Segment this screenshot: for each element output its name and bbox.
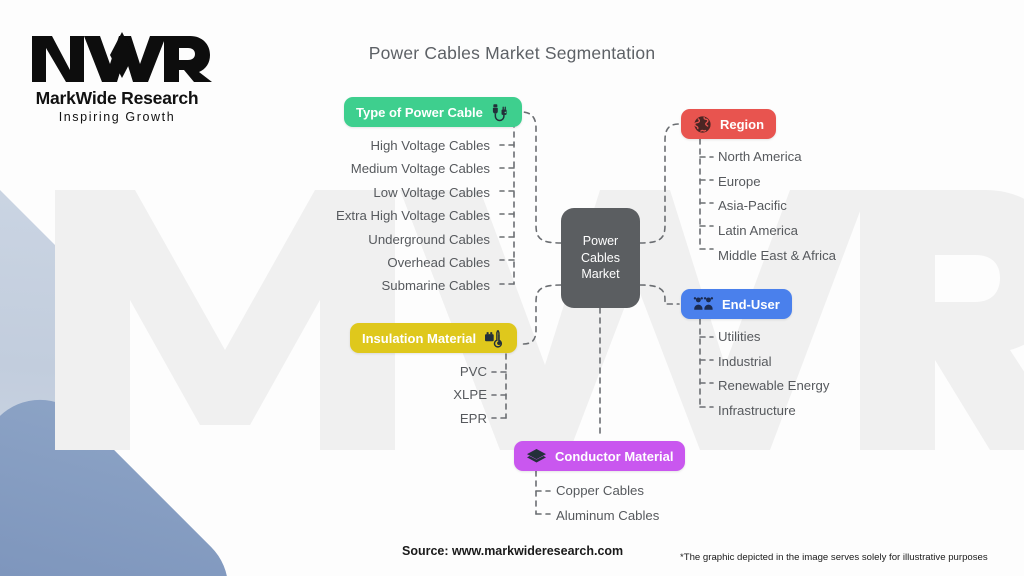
list-item: Industrial xyxy=(718,355,1008,368)
list-item: Asia-Pacific xyxy=(718,199,1008,212)
thermometer-icon xyxy=(484,329,505,348)
users-icon xyxy=(693,295,714,314)
center-node: Power Cables Market xyxy=(561,208,640,308)
list-item: Copper Cables xyxy=(556,484,846,497)
decorative-shape-light xyxy=(0,142,150,538)
branch-label-conductor-material: Conductor Material xyxy=(555,450,673,463)
branch-label-end-user: End-User xyxy=(722,298,780,311)
branch-badge-type-of-power-cable[interactable]: Type of Power Cable xyxy=(344,97,522,127)
page-title: Power Cables Market Segmentation xyxy=(0,43,1024,64)
branch-items-conductor-material: Copper Cables Aluminum Cables xyxy=(556,484,846,533)
branch-badge-insulation-material[interactable]: Insulation Material xyxy=(350,323,517,353)
branch-items-type-of-power-cable: High Voltage Cables Medium Voltage Cable… xyxy=(130,139,490,303)
list-item: High Voltage Cables xyxy=(130,139,490,152)
branch-badge-end-user[interactable]: End-User xyxy=(681,289,792,319)
list-item: Low Voltage Cables xyxy=(130,186,490,199)
list-item: Utilities xyxy=(718,330,1008,343)
list-item: Infrastructure xyxy=(718,404,1008,417)
branch-label-region: Region xyxy=(720,118,764,131)
list-item: Renewable Energy xyxy=(718,379,1008,392)
layers-icon xyxy=(526,447,547,466)
branch-badge-region[interactable]: Region xyxy=(681,109,776,139)
infographic-canvas: MarkWide Research Inspiring Growth Power… xyxy=(0,0,1024,576)
center-node-line-1: Power xyxy=(583,233,618,250)
branch-label-insulation-material: Insulation Material xyxy=(362,332,476,345)
branch-label-type-of-power-cable: Type of Power Cable xyxy=(356,106,483,119)
branch-badge-conductor-material[interactable]: Conductor Material xyxy=(514,441,685,471)
list-item: Medium Voltage Cables xyxy=(130,162,490,175)
globe-icon xyxy=(693,115,712,134)
list-item: Underground Cables xyxy=(130,233,490,246)
list-item: PVC xyxy=(200,365,487,378)
branch-items-region: North America Europe Asia-Pacific Latin … xyxy=(718,150,1008,274)
list-item: EPR xyxy=(200,412,487,425)
branch-items-end-user: Utilities Industrial Renewable Energy In… xyxy=(718,330,1008,429)
list-item: XLPE xyxy=(200,388,487,401)
list-item: Middle East & Africa xyxy=(718,249,1008,262)
list-item: North America xyxy=(718,150,1008,163)
logo-tagline: Inspiring Growth xyxy=(22,110,212,124)
list-item: Extra High Voltage Cables xyxy=(130,209,490,222)
list-item: Europe xyxy=(718,175,1008,188)
footer-disclaimer: *The graphic depicted in the image serve… xyxy=(680,552,988,563)
list-item: Aluminum Cables xyxy=(556,509,846,522)
list-item: Submarine Cables xyxy=(130,279,490,292)
center-node-line-2: Cables xyxy=(581,250,620,267)
center-node-line-3: Market xyxy=(581,266,619,283)
list-item: Overhead Cables xyxy=(130,256,490,269)
logo-wordmark: MarkWide Research xyxy=(22,88,212,109)
footer-source: Source: www.markwideresearch.com xyxy=(402,544,623,558)
branch-items-insulation-material: PVC XLPE EPR xyxy=(200,365,487,435)
list-item: Latin America xyxy=(718,224,1008,237)
cable-plug-icon xyxy=(491,103,510,122)
